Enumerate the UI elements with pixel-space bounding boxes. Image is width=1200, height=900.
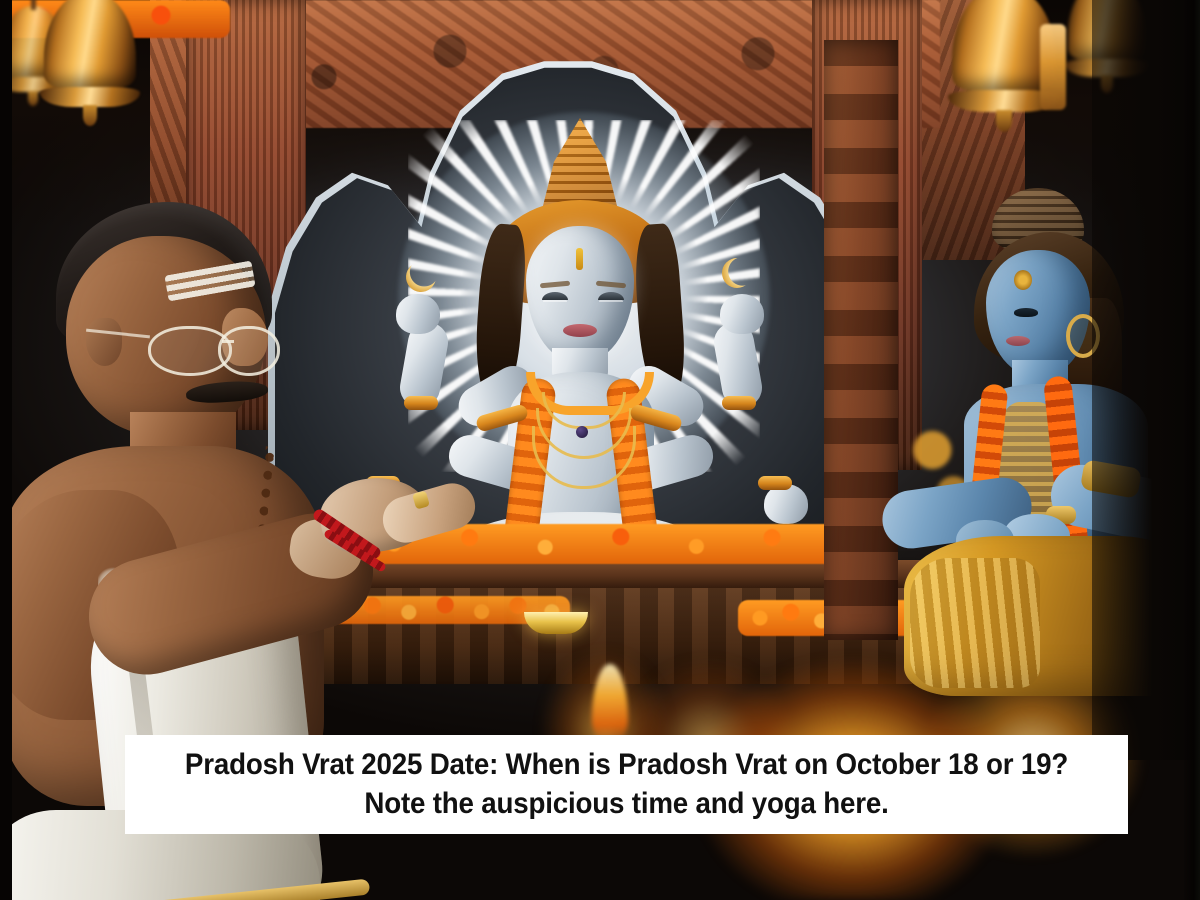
brass-bell-icon-left bbox=[44, 0, 136, 120]
screenshot-root: Pradosh Vrat 2025 Date: When is Pradosh … bbox=[0, 0, 1200, 900]
shiva-hand-lower-right bbox=[764, 484, 808, 524]
shiva-lips bbox=[563, 324, 597, 337]
shiva-bangle-lower-right bbox=[758, 476, 792, 490]
priest-glasses-bridge bbox=[222, 340, 234, 343]
wood-pillar-center-right bbox=[824, 40, 898, 640]
crescent-object-right-icon bbox=[717, 253, 756, 292]
deity-lips bbox=[1006, 336, 1030, 346]
shiva-tilak bbox=[576, 248, 583, 270]
shiva-hand-upper-right bbox=[720, 294, 764, 334]
bell-body bbox=[44, 0, 136, 87]
priest-ear bbox=[86, 318, 122, 366]
deity-head bbox=[986, 250, 1090, 376]
priest-glasses-lens-right bbox=[218, 326, 280, 376]
bell-clapper bbox=[83, 105, 98, 125]
hanging-lamp-icon bbox=[1040, 24, 1066, 110]
shiva-bangle-upper-right bbox=[722, 396, 756, 410]
bell-lip bbox=[40, 87, 139, 107]
caption-text: Pradosh Vrat 2025 Date: When is Pradosh … bbox=[155, 746, 1098, 824]
caption-banner: Pradosh Vrat 2025 Date: When is Pradosh … bbox=[125, 735, 1128, 834]
bell-rope bbox=[31, 0, 36, 10]
right-border-strip bbox=[1184, 0, 1200, 900]
deity-tilak bbox=[1014, 270, 1032, 290]
shiva-pendant bbox=[576, 426, 588, 438]
deity-eye bbox=[1014, 308, 1038, 317]
left-border-strip bbox=[0, 0, 12, 900]
deity-dhoti-pleats bbox=[910, 558, 1040, 688]
